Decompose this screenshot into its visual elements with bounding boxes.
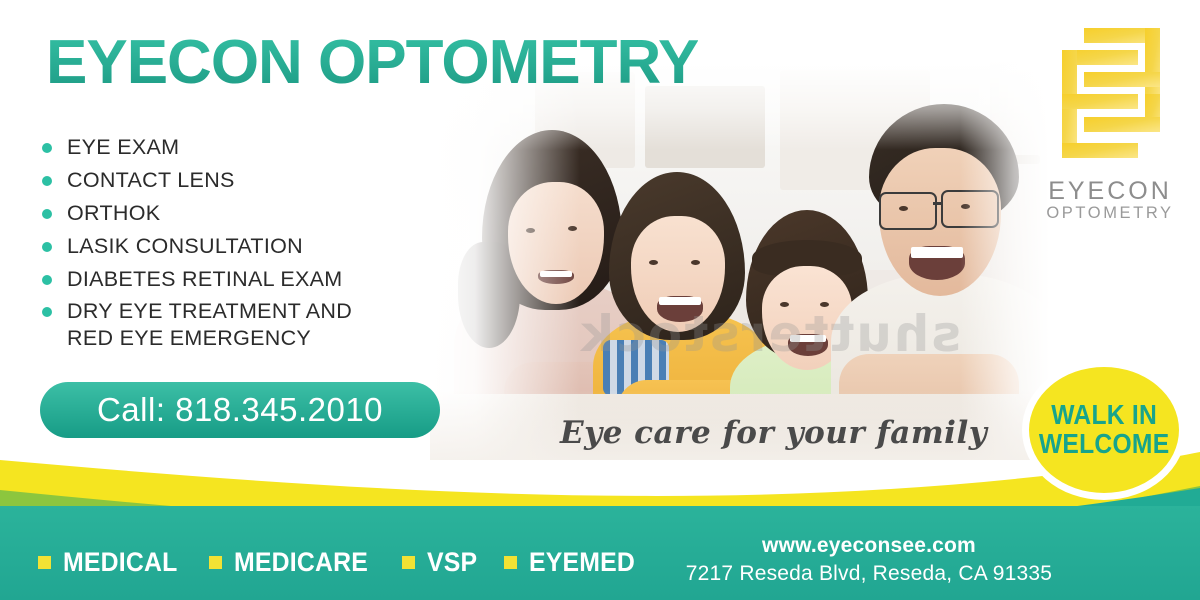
list-item: DRY EYE TREATMENT AND RED EYE EMERGENCY (42, 298, 412, 352)
service-label: ORTHOK (67, 200, 160, 227)
photo-father-glasses-bridge (933, 202, 943, 205)
insurance-label: VSP (427, 547, 477, 578)
photo-girl-older-teeth (659, 297, 701, 305)
list-item: DIABETES RETINAL EXAM (42, 266, 412, 293)
insurance-label: MEDICAL (63, 547, 177, 578)
list-item: MEDICARE (209, 547, 380, 578)
walk-in-line-2: WELCOME (1039, 430, 1170, 459)
service-label: DRY EYE TREATMENT AND RED EYE EMERGENCY (67, 298, 357, 352)
list-item: EYE EXAM (42, 134, 412, 161)
service-label: CONTACT LENS (67, 167, 235, 194)
logo-wordmark: EYECON (1030, 178, 1190, 204)
eyecon-logo-icon (1054, 22, 1166, 172)
list-item: LASIK CONSULTATION (42, 233, 412, 260)
bullet-dot-icon (42, 176, 52, 186)
service-label: EYE EXAM (67, 134, 179, 161)
bullet-square-icon (402, 556, 415, 569)
photo-girl-older-eye (691, 260, 700, 265)
bullet-dot-icon (42, 307, 52, 317)
list-item: CONTACT LENS (42, 167, 412, 194)
services-list: EYE EXAM CONTACT LENS ORTHOK LASIK CONSU… (42, 134, 412, 358)
walk-in-welcome-badge: WALK IN WELCOME (1022, 360, 1186, 500)
list-item: ORTHOK (42, 200, 412, 227)
service-label: LASIK CONSULTATION (67, 233, 303, 260)
address-text: 7217 Reseda Blvd, Reseda, CA 91335 (634, 562, 1104, 586)
walk-in-line-1: WALK IN (1051, 401, 1157, 430)
bullet-square-icon (38, 556, 51, 569)
photo-father-glasses-left-lens (879, 192, 937, 230)
bullet-dot-icon (42, 242, 52, 252)
insurance-label: MEDICARE (234, 547, 368, 578)
photo-father-teeth (911, 247, 963, 258)
insurance-label: EYEMED (529, 547, 635, 578)
list-item: EYEMED (504, 547, 644, 578)
bullet-dot-icon (42, 143, 52, 153)
family-photo: shutterstock (430, 60, 1050, 460)
website-link[interactable]: www.eyeconsee.com (634, 534, 1104, 558)
advertisement-banner: shutterstock EYECON OPTOMETRY EYE EXAM C… (0, 0, 1200, 600)
page-title: EYECON OPTOMETRY (46, 32, 698, 94)
photo-girl-older-eye (649, 260, 658, 265)
bullet-dot-icon (42, 209, 52, 219)
shutterstock-watermark: shutterstock (560, 305, 980, 363)
photo-father-eye (899, 206, 908, 211)
service-label: DIABETES RETINAL EXAM (67, 266, 343, 293)
list-item: MEDICAL (38, 547, 187, 578)
footer-bar: MEDICAL MEDICARE VSP EYEMED www.eyeconse… (0, 506, 1200, 600)
bullet-square-icon (209, 556, 222, 569)
logo-subtitle: OPTOMETRY (1030, 204, 1190, 223)
contact-block: www.eyeconsee.com 7217 Reseda Blvd, Rese… (634, 534, 1104, 586)
insurance-list: MEDICAL MEDICARE VSP EYEMED (38, 547, 666, 578)
bullet-dot-icon (42, 275, 52, 285)
bullet-square-icon (504, 556, 517, 569)
list-item: VSP (402, 547, 482, 578)
call-phone-label: Call: 818.345.2010 (97, 391, 383, 429)
brand-logo: EYECON OPTOMETRY (1030, 22, 1190, 223)
